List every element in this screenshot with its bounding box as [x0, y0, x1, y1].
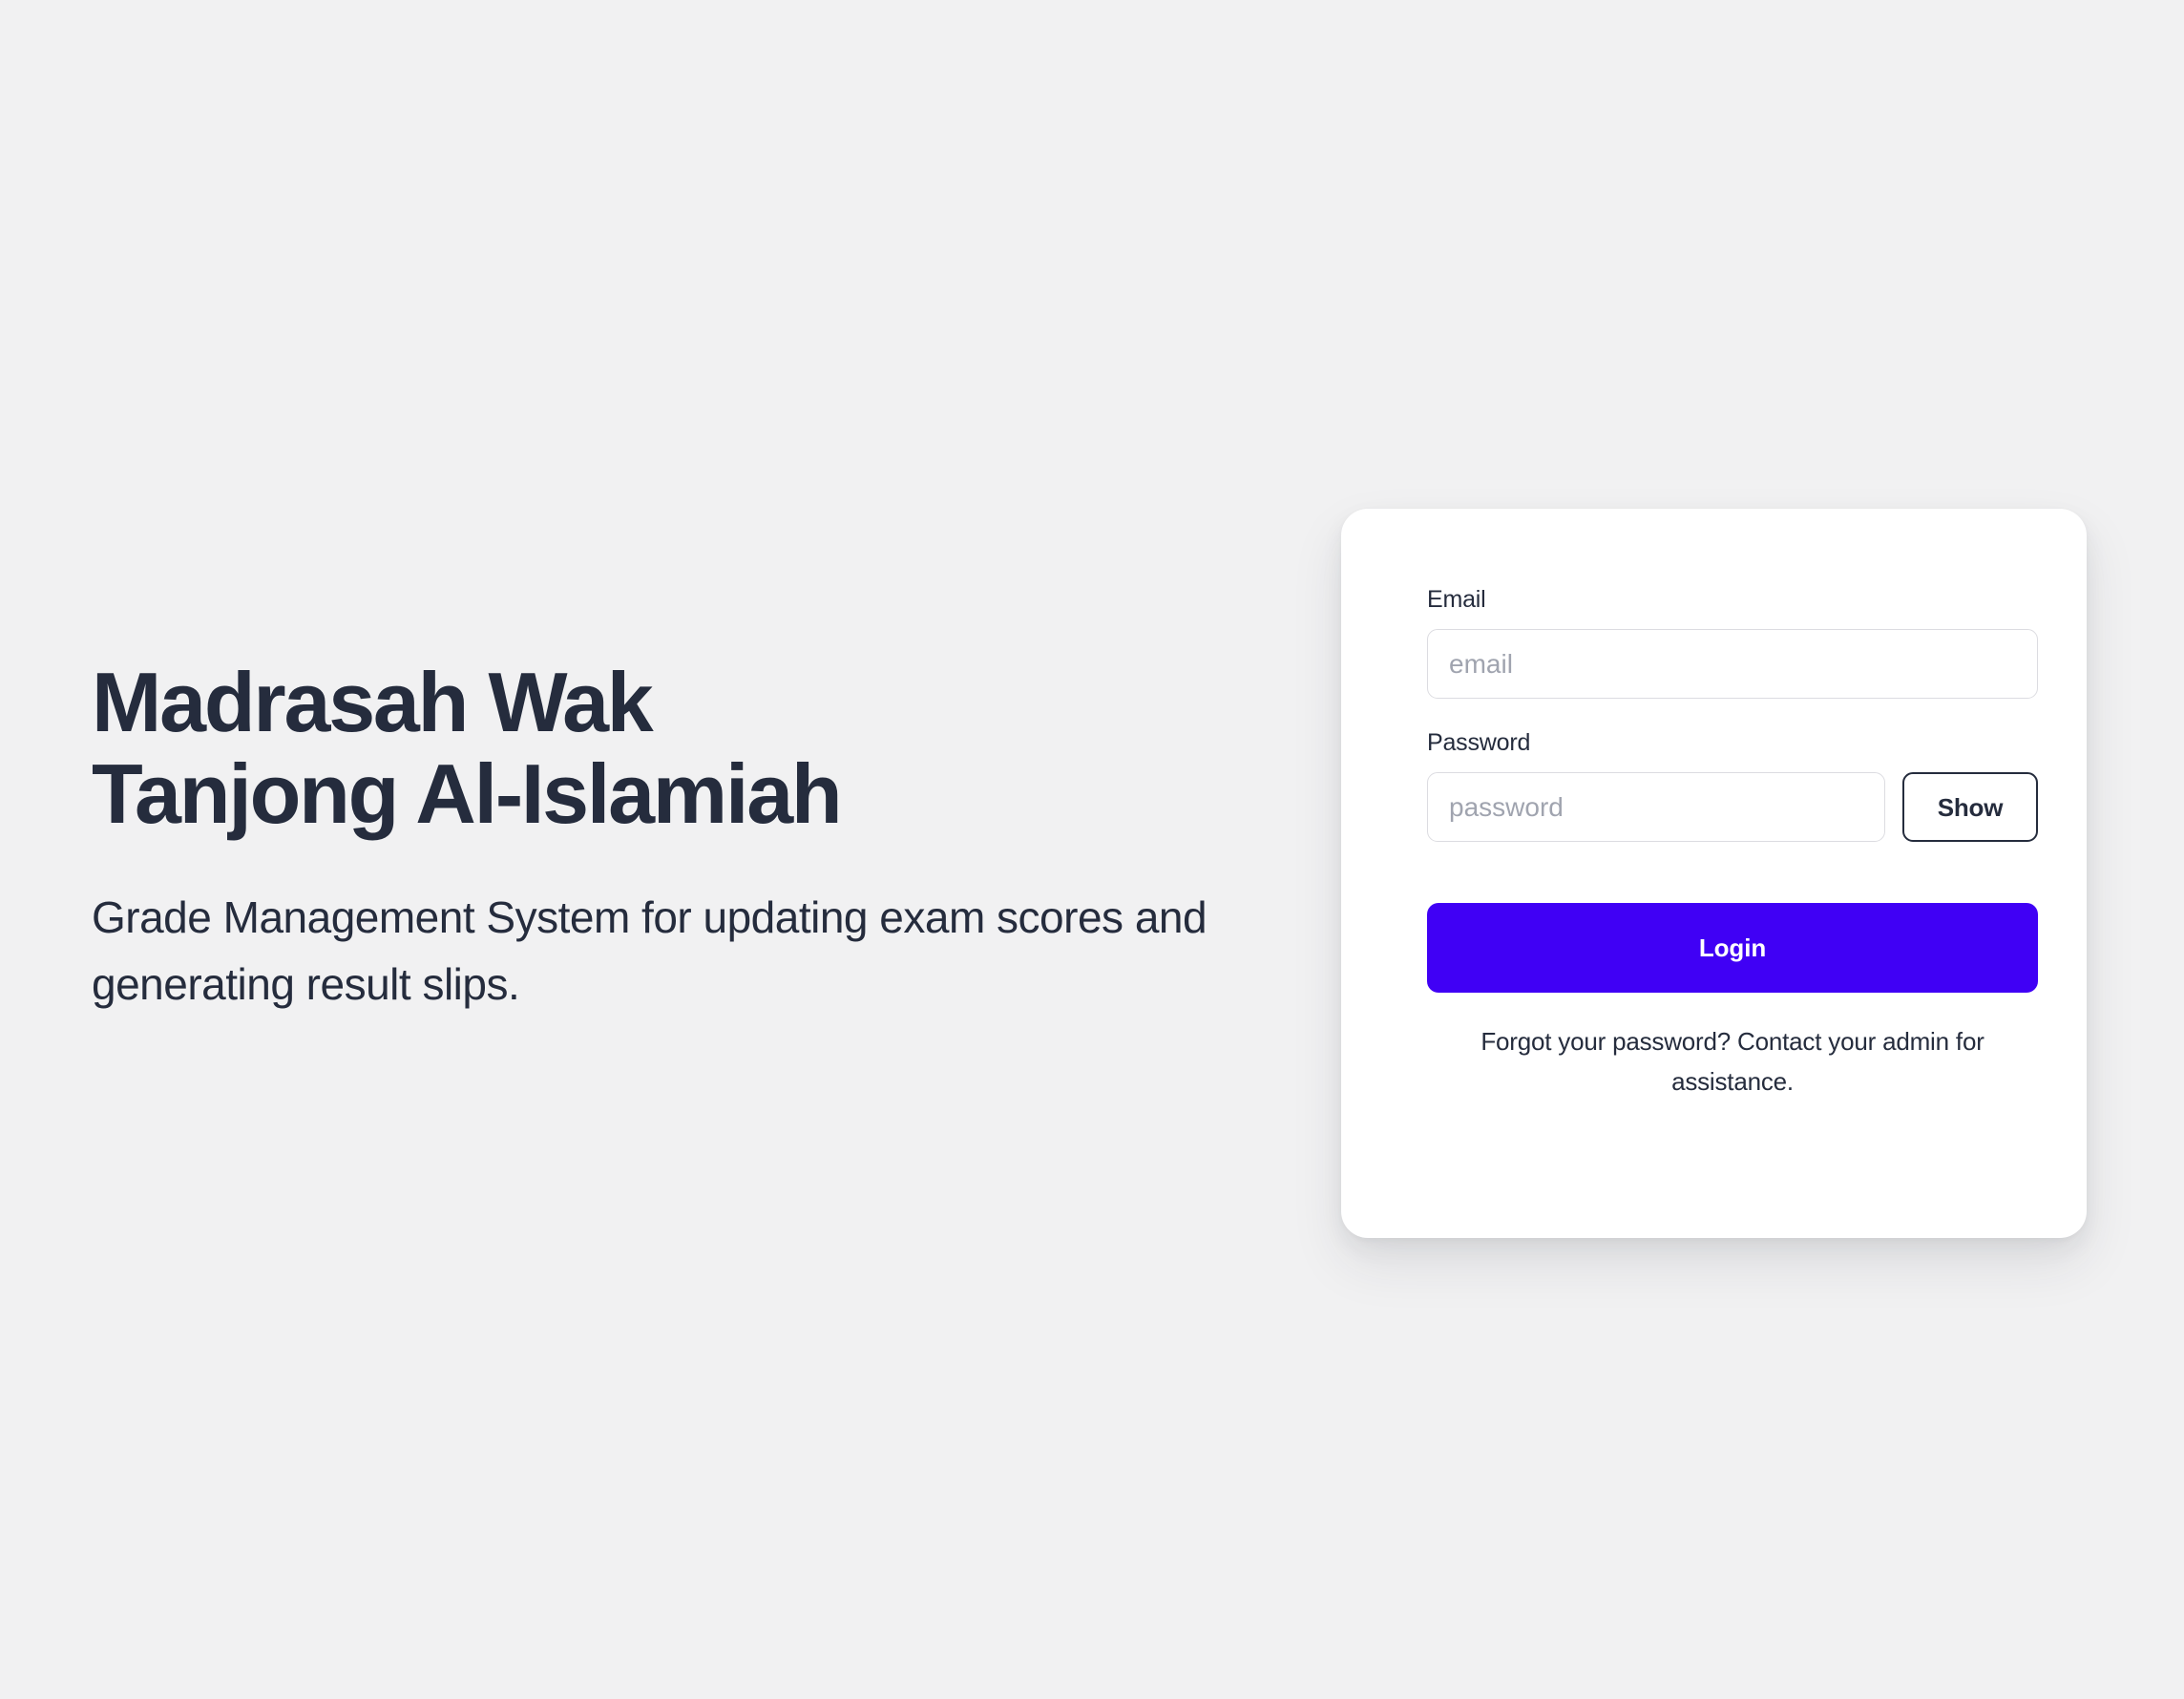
hero-section: Madrasah Wak Tanjong Al-Islamiah Grade M…	[92, 657, 1266, 1017]
login-card: Email Password Show Login Forgot your pa…	[1341, 509, 2087, 1238]
password-row: Show	[1427, 772, 2038, 842]
forgot-password-helper-text: Forgot your password? Contact your admin…	[1427, 993, 2038, 1101]
page-subtitle: Grade Management System for updating exa…	[92, 840, 1251, 1017]
login-form: Email Password Show Login Forgot your pa…	[1427, 585, 2038, 1101]
email-input[interactable]	[1427, 629, 2038, 699]
toggle-password-visibility-button[interactable]: Show	[1902, 772, 2038, 842]
email-field-group: Email	[1427, 585, 2038, 699]
password-label: Password	[1427, 728, 2038, 757]
password-input[interactable]	[1427, 772, 1885, 842]
login-page: Madrasah Wak Tanjong Al-Islamiah Grade M…	[0, 0, 2184, 1699]
email-label: Email	[1427, 585, 2038, 614]
page-title: Madrasah Wak Tanjong Al-Islamiah	[92, 657, 1266, 840]
login-button[interactable]: Login	[1427, 903, 2038, 993]
password-field-group: Password Show	[1427, 728, 2038, 842]
